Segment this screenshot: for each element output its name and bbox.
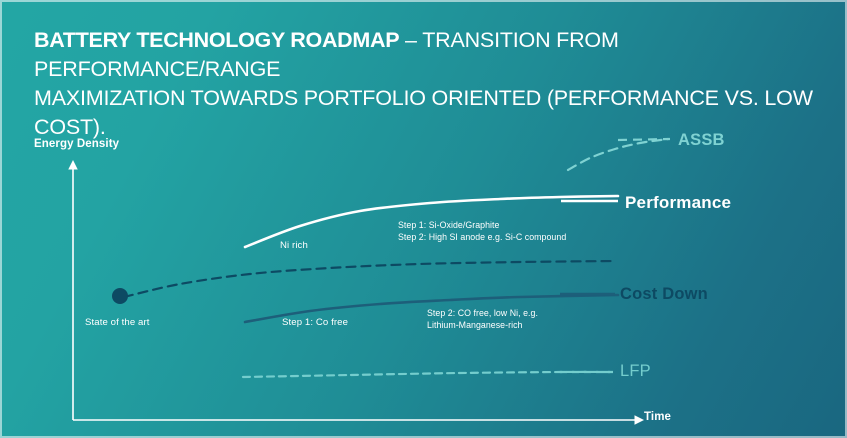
annotation-state-of-the-art: State of the art [85,317,150,328]
series-label-cost-down: Cost Down [620,285,708,304]
annotation-cost-steps: Step 2: CO free, low Ni, e.g. Lithium-Ma… [427,308,538,331]
legend-connectors [560,139,670,372]
series-curve-lfp [243,372,613,377]
series-curve-cost-down-potential [124,261,615,297]
series-curve-assb [568,139,668,170]
roadmap-chart [0,0,847,438]
x-axis-label: Time [644,411,671,423]
axis-lines [73,168,636,420]
series-label-assb: ASSB [678,131,725,150]
series-curves [124,139,668,377]
slide-canvas: BATTERY TECHNOLOGY ROADMAP – TRANSITION … [0,0,847,438]
data-markers [112,288,128,304]
annotation-ni-rich: Ni rich [280,240,308,251]
annotation-co-free: Step 1: Co free [282,317,348,328]
annotation-performance-steps: Step 1: Si-Oxide/Graphite Step 2: High S… [398,220,566,243]
series-label-lfp: LFP [620,362,651,381]
marker-state-of-the-art [112,288,128,304]
y-axis-label: Energy Density [34,138,119,150]
series-label-performance: Performance [625,193,731,213]
